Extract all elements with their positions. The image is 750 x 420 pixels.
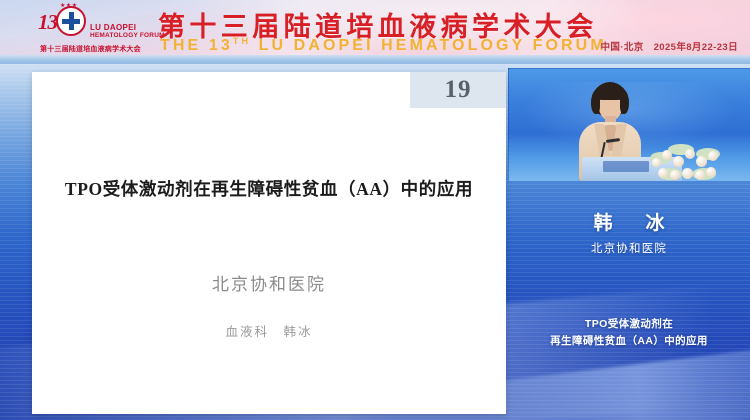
speaker-affiliation: 北京协和医院 xyxy=(508,240,750,256)
logo-edition-number: 13 xyxy=(38,10,57,35)
slide-title: TPO受体激动剂在再生障碍性贫血（AA）中的应用 xyxy=(32,176,506,201)
speaker-video-panel[interactable] xyxy=(508,68,750,181)
slide-page-number: 19 xyxy=(410,72,506,108)
slide-organization: 北京协和医院 xyxy=(32,270,506,295)
conference-header-banner: 13 ★★★ LU DAOPEI HEMATOLOGY FORUM 第十三届陆道… xyxy=(0,0,750,64)
title-en-ordinal: TH xyxy=(233,36,251,46)
flower-bloom xyxy=(652,158,661,167)
flower-arrangement xyxy=(648,142,722,181)
flower-bloom xyxy=(706,167,716,177)
talk-title: TPO受体激动剂在 再生障碍性贫血（AA）中的应用 xyxy=(508,316,750,350)
talk-title-line2: 再生障碍性贫血（AA）中的应用 xyxy=(508,333,750,350)
speaker-hair-right xyxy=(620,92,629,114)
logo-stars-icon: ★★★ xyxy=(60,2,78,9)
flower-bloom xyxy=(695,170,705,180)
podium-name-plate xyxy=(603,161,649,172)
speaker-name: 韩 冰 xyxy=(508,208,750,235)
medical-cross-icon xyxy=(62,12,80,30)
flower-bloom xyxy=(708,151,718,161)
logo-english-line2: HEMATOLOGY FORUM xyxy=(90,32,165,39)
flower-bloom xyxy=(682,168,693,179)
flower-bloom xyxy=(658,168,668,178)
logo-english-line1: LU DAOPEI xyxy=(90,23,136,32)
title-en-prefix: THE 13 xyxy=(160,37,233,54)
flower-bloom xyxy=(662,150,672,160)
logo-chinese-line: 第十三届陆道培血液病学术大会 xyxy=(40,44,141,54)
broadcast-screen: 13 ★★★ LU DAOPEI HEMATOLOGY FORUM 第十三届陆道… xyxy=(0,0,750,420)
speaker-hair-left xyxy=(591,92,600,114)
conference-location-date: 中国·北京 2025年8月22-23日 xyxy=(601,39,738,53)
title-en-suffix: LU DAOPEI HEMATOLOGY FORUM xyxy=(251,37,607,54)
flower-bloom xyxy=(673,156,684,167)
flower-bloom xyxy=(696,156,707,167)
flower-bloom xyxy=(685,149,695,159)
slide-department-speaker: 血液科 韩冰 xyxy=(32,321,506,340)
conference-logo: 13 ★★★ LU DAOPEI HEMATOLOGY FORUM 第十三届陆道… xyxy=(38,6,156,60)
talk-title-line1: TPO受体激动剂在 xyxy=(508,316,750,333)
presentation-slide[interactable]: 19 TPO受体激动剂在再生障碍性贫血（AA）中的应用 北京协和医院 血液科 韩… xyxy=(32,72,506,414)
conference-title-english: THE 13TH LU DAOPEI HEMATOLOGY FORUM xyxy=(160,36,607,55)
flower-bloom xyxy=(670,170,680,180)
header-bottom-band xyxy=(0,55,750,64)
